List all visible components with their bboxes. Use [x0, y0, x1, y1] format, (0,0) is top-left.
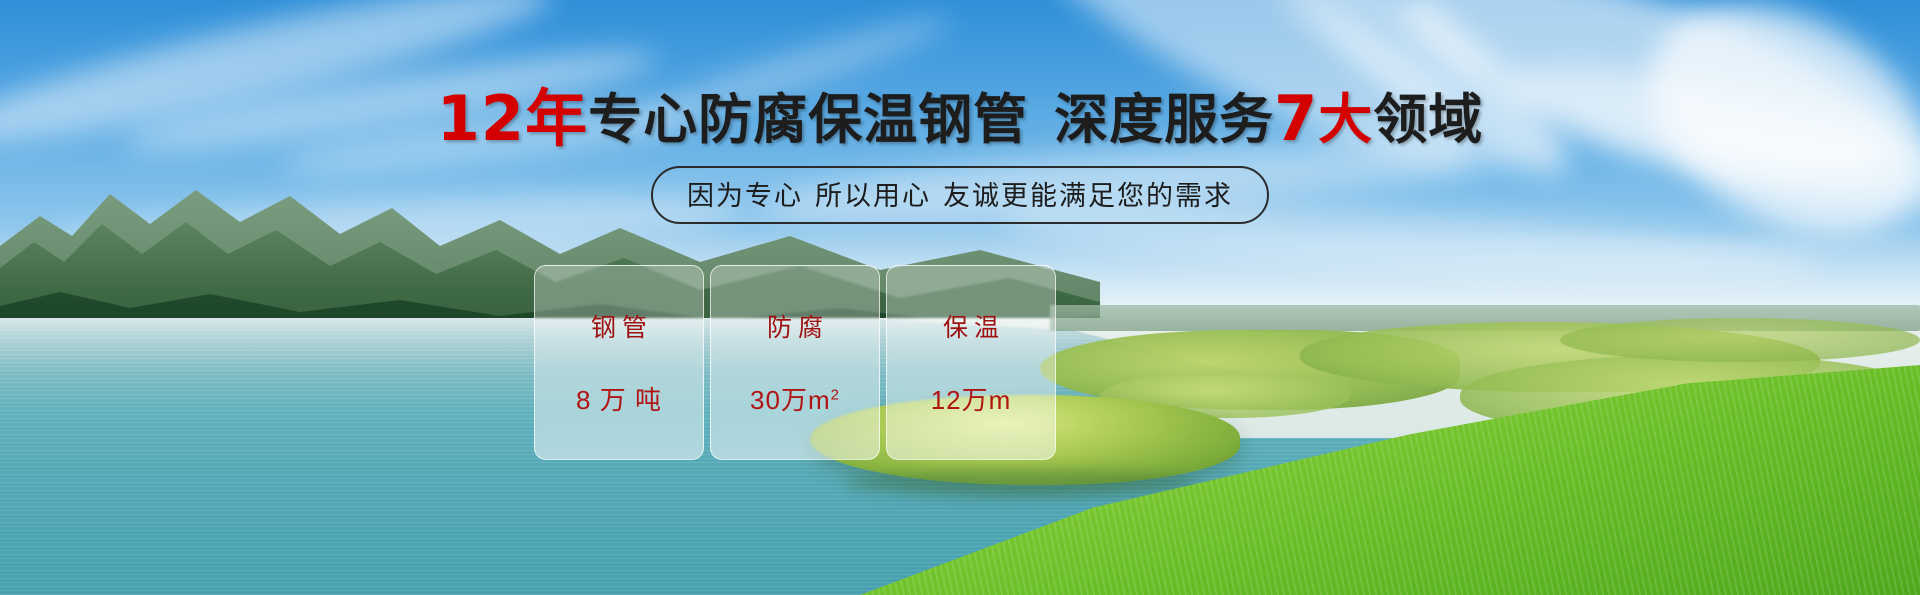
headline-years-number: 12: [437, 82, 525, 155]
subtitle-container: 因为专心所以用心友诚更能满足您的需求: [0, 166, 1920, 224]
hero-banner: 12年专心防腐保温钢管深度服务7大领域 因为专心所以用心友诚更能满足您的需求 钢…: [0, 0, 1920, 595]
page-title: 12年专心防腐保温钢管深度服务7大领域: [0, 88, 1920, 150]
stat-label: 防腐: [761, 308, 829, 344]
stat-value: 12万m: [931, 380, 1012, 417]
subtitle-part-2: 所以用心: [815, 181, 931, 211]
headline-fields-number: 7: [1274, 82, 1318, 155]
subtitle-part-1: 因为专心: [687, 181, 803, 211]
headline-segment-2: 深度服务: [1054, 88, 1274, 151]
stat-label: 钢管: [585, 308, 653, 344]
stat-value: 8 万 吨: [576, 380, 662, 417]
stat-value: 30万m2: [750, 380, 840, 417]
marsh-vegetation: [1560, 318, 1920, 362]
stat-value-superscript: 2: [831, 386, 840, 403]
headline-years-unit: 年: [525, 82, 588, 155]
stat-card-anticorrosion[interactable]: 防腐 30万m2: [710, 265, 880, 460]
stat-label: 保温: [937, 308, 1005, 344]
headline-fields-unit: 大: [1318, 88, 1373, 151]
subtitle-pill: 因为专心所以用心友诚更能满足您的需求: [651, 166, 1269, 224]
stat-card-insulation[interactable]: 保温 12万m: [886, 265, 1056, 460]
subtitle-part-3: 友诚更能满足您的需求: [943, 181, 1233, 211]
headline-segment-3: 领域: [1373, 88, 1483, 151]
stat-card-steel-pipe[interactable]: 钢管 8 万 吨: [534, 265, 704, 460]
headline-segment-1: 专心防腐保温钢管: [588, 88, 1028, 151]
stats-card-group: 钢管 8 万 吨 防腐 30万m2 保温 12万m: [534, 265, 1056, 460]
